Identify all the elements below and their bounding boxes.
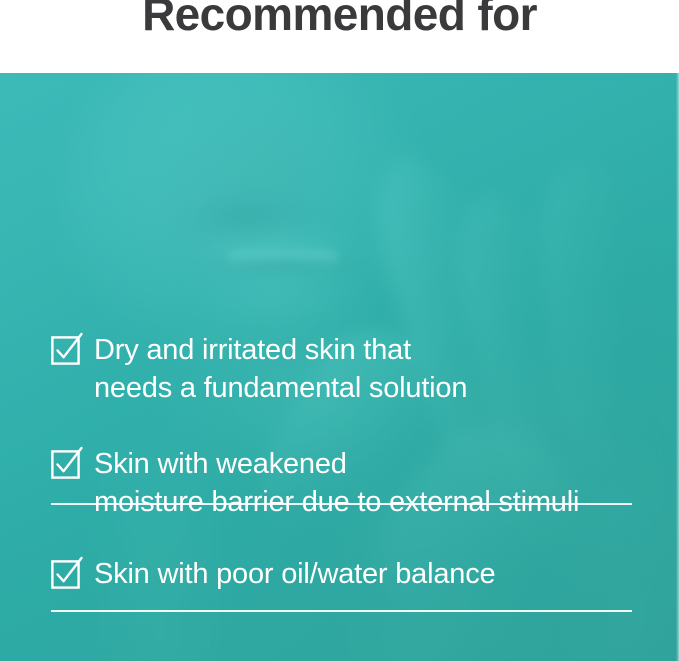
list-item: Skin with weakened moisture barrier due … (51, 445, 651, 522)
list-item-first-row: Dry and irritated skin that (51, 331, 651, 370)
list-item-line-1: Skin with poor oil/water balance (94, 555, 495, 594)
list-item-first-row: Skin with weakened (51, 445, 651, 484)
checkbox-checked-icon (51, 560, 80, 589)
list-divider (51, 610, 632, 612)
list-item: Skin with poor oil/water balance (51, 555, 651, 594)
list-item-line-2: needs a fundamental solution (94, 369, 651, 408)
list-item: Dry and irritated skin that needs a fund… (51, 331, 651, 408)
recommended-for-panel: Recommended for (0, 0, 679, 661)
checkbox-checked-icon (51, 450, 80, 479)
page-title: Recommended for (0, 0, 679, 43)
checkbox-checked-icon (51, 336, 80, 365)
list-item-line-1: Skin with weakened (94, 445, 347, 484)
teal-photo-panel: Dry and irritated skin that needs a fund… (0, 73, 679, 661)
list-divider (51, 503, 632, 505)
header-band: Recommended for (0, 0, 679, 73)
list-item-line-1: Dry and irritated skin that (94, 331, 411, 370)
list-item-first-row: Skin with poor oil/water balance (51, 555, 651, 594)
